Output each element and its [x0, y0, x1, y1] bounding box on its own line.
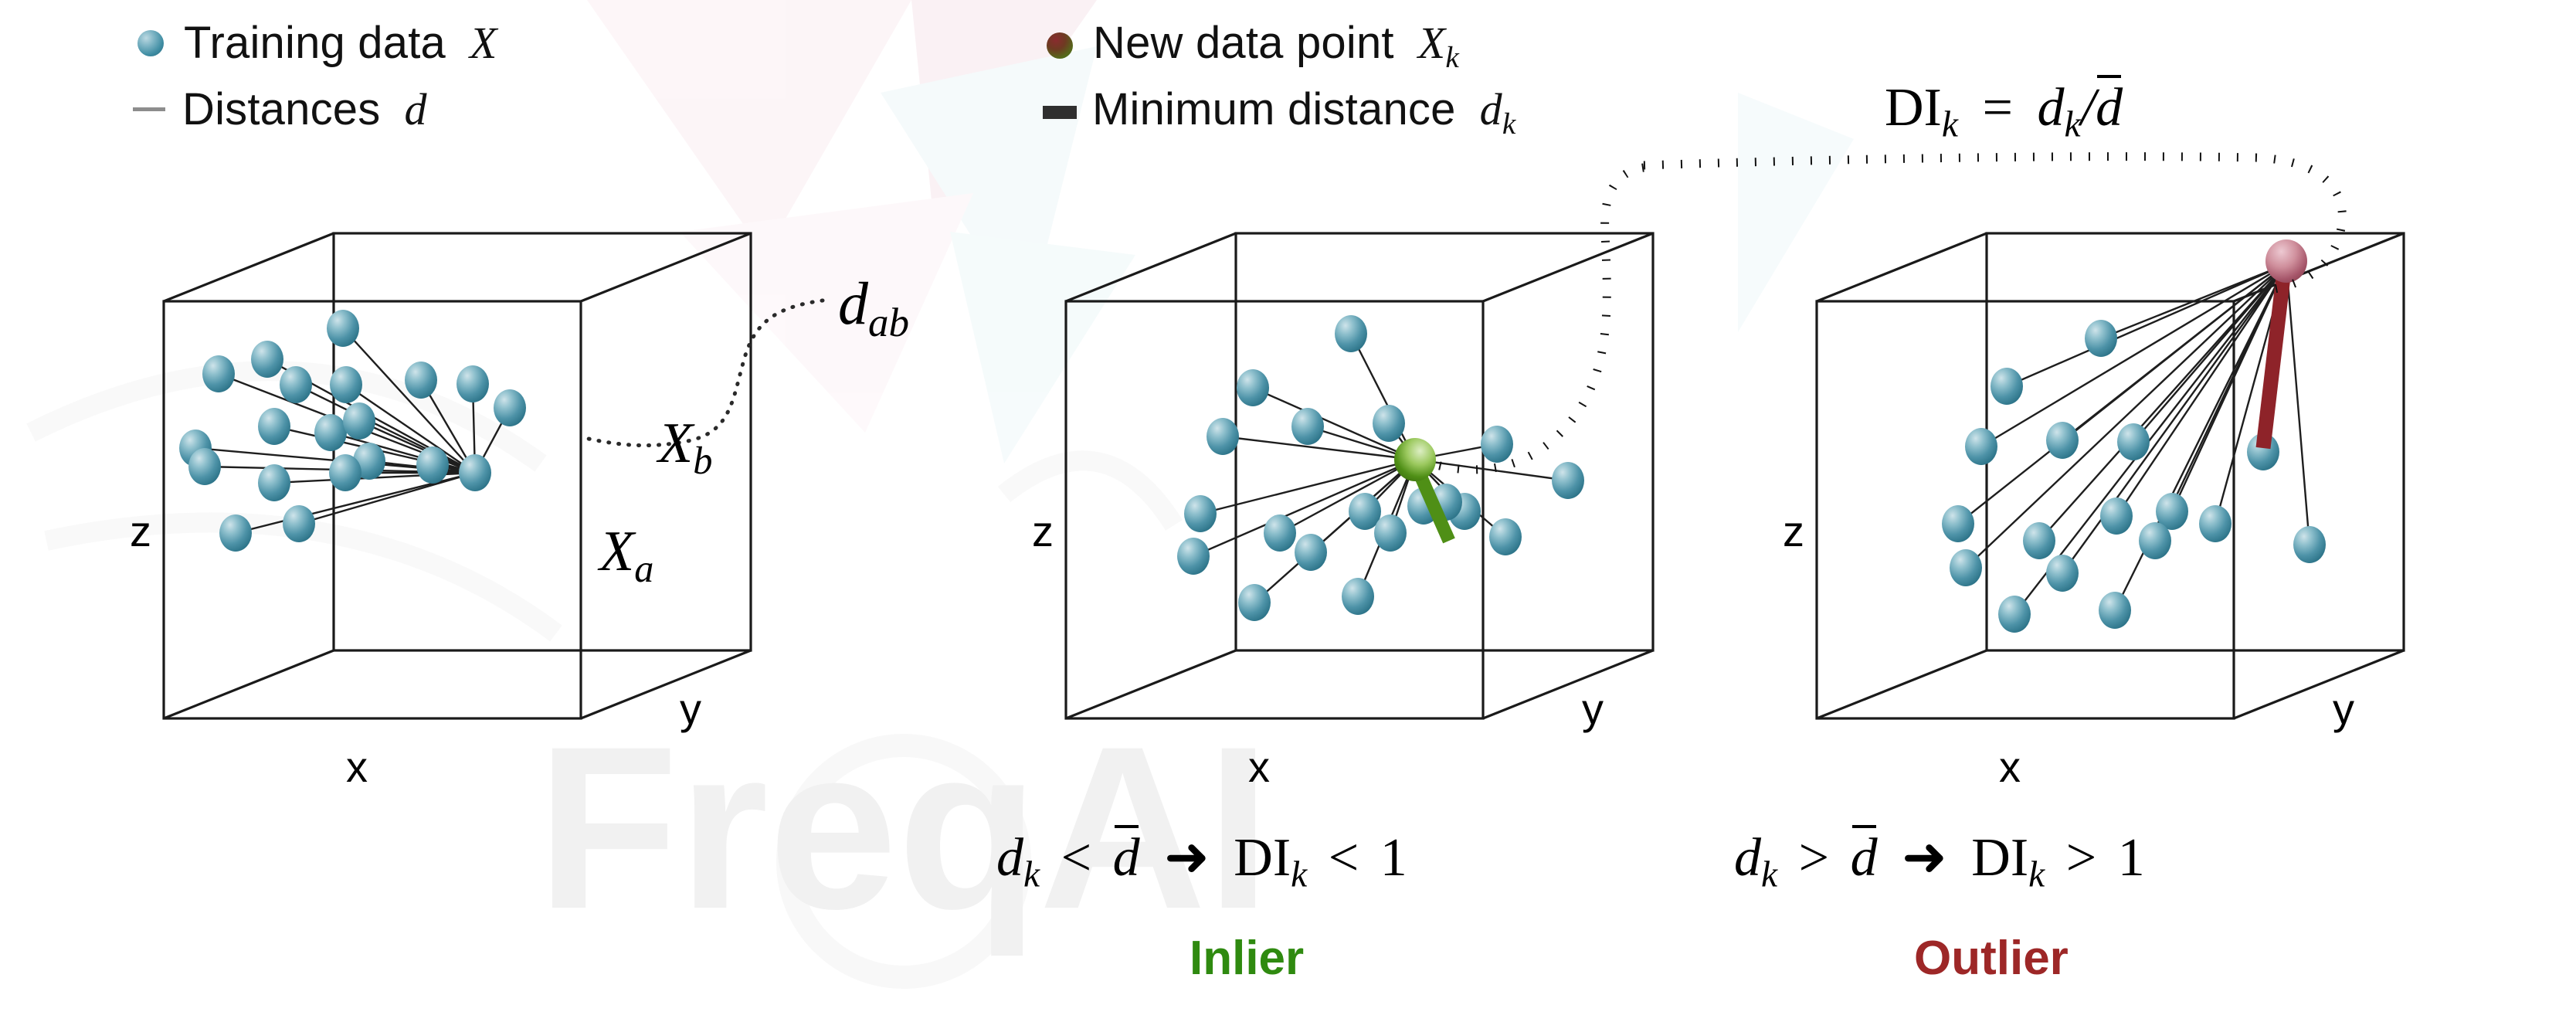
- legend-label-distances: Distances d: [182, 83, 427, 135]
- point-label-xa: Xa: [599, 519, 653, 591]
- axis-label-y-panel3: y: [2333, 684, 2354, 734]
- distances-dash: [133, 107, 165, 111]
- legend-item-minimum-distance: Minimum distance dk: [1043, 83, 1516, 141]
- new-point-dot: [1047, 32, 1073, 59]
- distance-callout-dab: dab: [838, 269, 909, 346]
- verdict-outlier: Outlier: [1914, 931, 2069, 986]
- legend-item-training-data: Training data X: [137, 17, 497, 69]
- connector-dotted-outlier: [1644, 157, 2342, 290]
- hub-point-xa: [459, 454, 491, 491]
- diagram-canvas: FreqAI w: [0, 0, 2576, 1022]
- legend-label-new-data-point: New data point Xk: [1093, 17, 1459, 75]
- minimum-distance-dash: [1043, 106, 1077, 119]
- axis-label-x-panel1: x: [346, 742, 368, 792]
- cube-outlier: [1817, 233, 2404, 718]
- di-formula: DIk = dk/d: [1885, 77, 2123, 145]
- legend-label-training-data: Training data X: [184, 17, 497, 69]
- axis-label-z-panel1: z: [130, 506, 151, 556]
- legend-item-distances: Distances d: [133, 83, 427, 135]
- axis-label-z-panel3: z: [1783, 506, 1804, 556]
- axis-label-z-panel2: z: [1032, 506, 1054, 556]
- axis-label-y-panel1: y: [680, 684, 701, 734]
- caption-outlier: dk > d ➜ DIk > 1: [1734, 825, 2145, 895]
- legend-item-new-data-point: New data point Xk: [1047, 17, 1459, 75]
- axis-label-x-panel3: x: [1999, 742, 2021, 792]
- minimum-distance-segment-outlier: [2263, 270, 2284, 448]
- axis-label-y-panel2: y: [1582, 684, 1604, 734]
- point-label-xb: Xb: [658, 411, 712, 483]
- axis-label-x-panel2: x: [1248, 742, 1270, 792]
- caption-inlier: dk < d ➜ DIk < 1: [996, 825, 1407, 895]
- connector-dotted-inlier: [1437, 168, 1644, 470]
- training-point-dot: [137, 30, 164, 56]
- legend-label-minimum-distance: Minimum distance dk: [1092, 83, 1516, 141]
- verdict-inlier: Inlier: [1190, 931, 1304, 986]
- new-point-inlier: [1394, 438, 1436, 481]
- new-point-outlier: [2265, 239, 2307, 283]
